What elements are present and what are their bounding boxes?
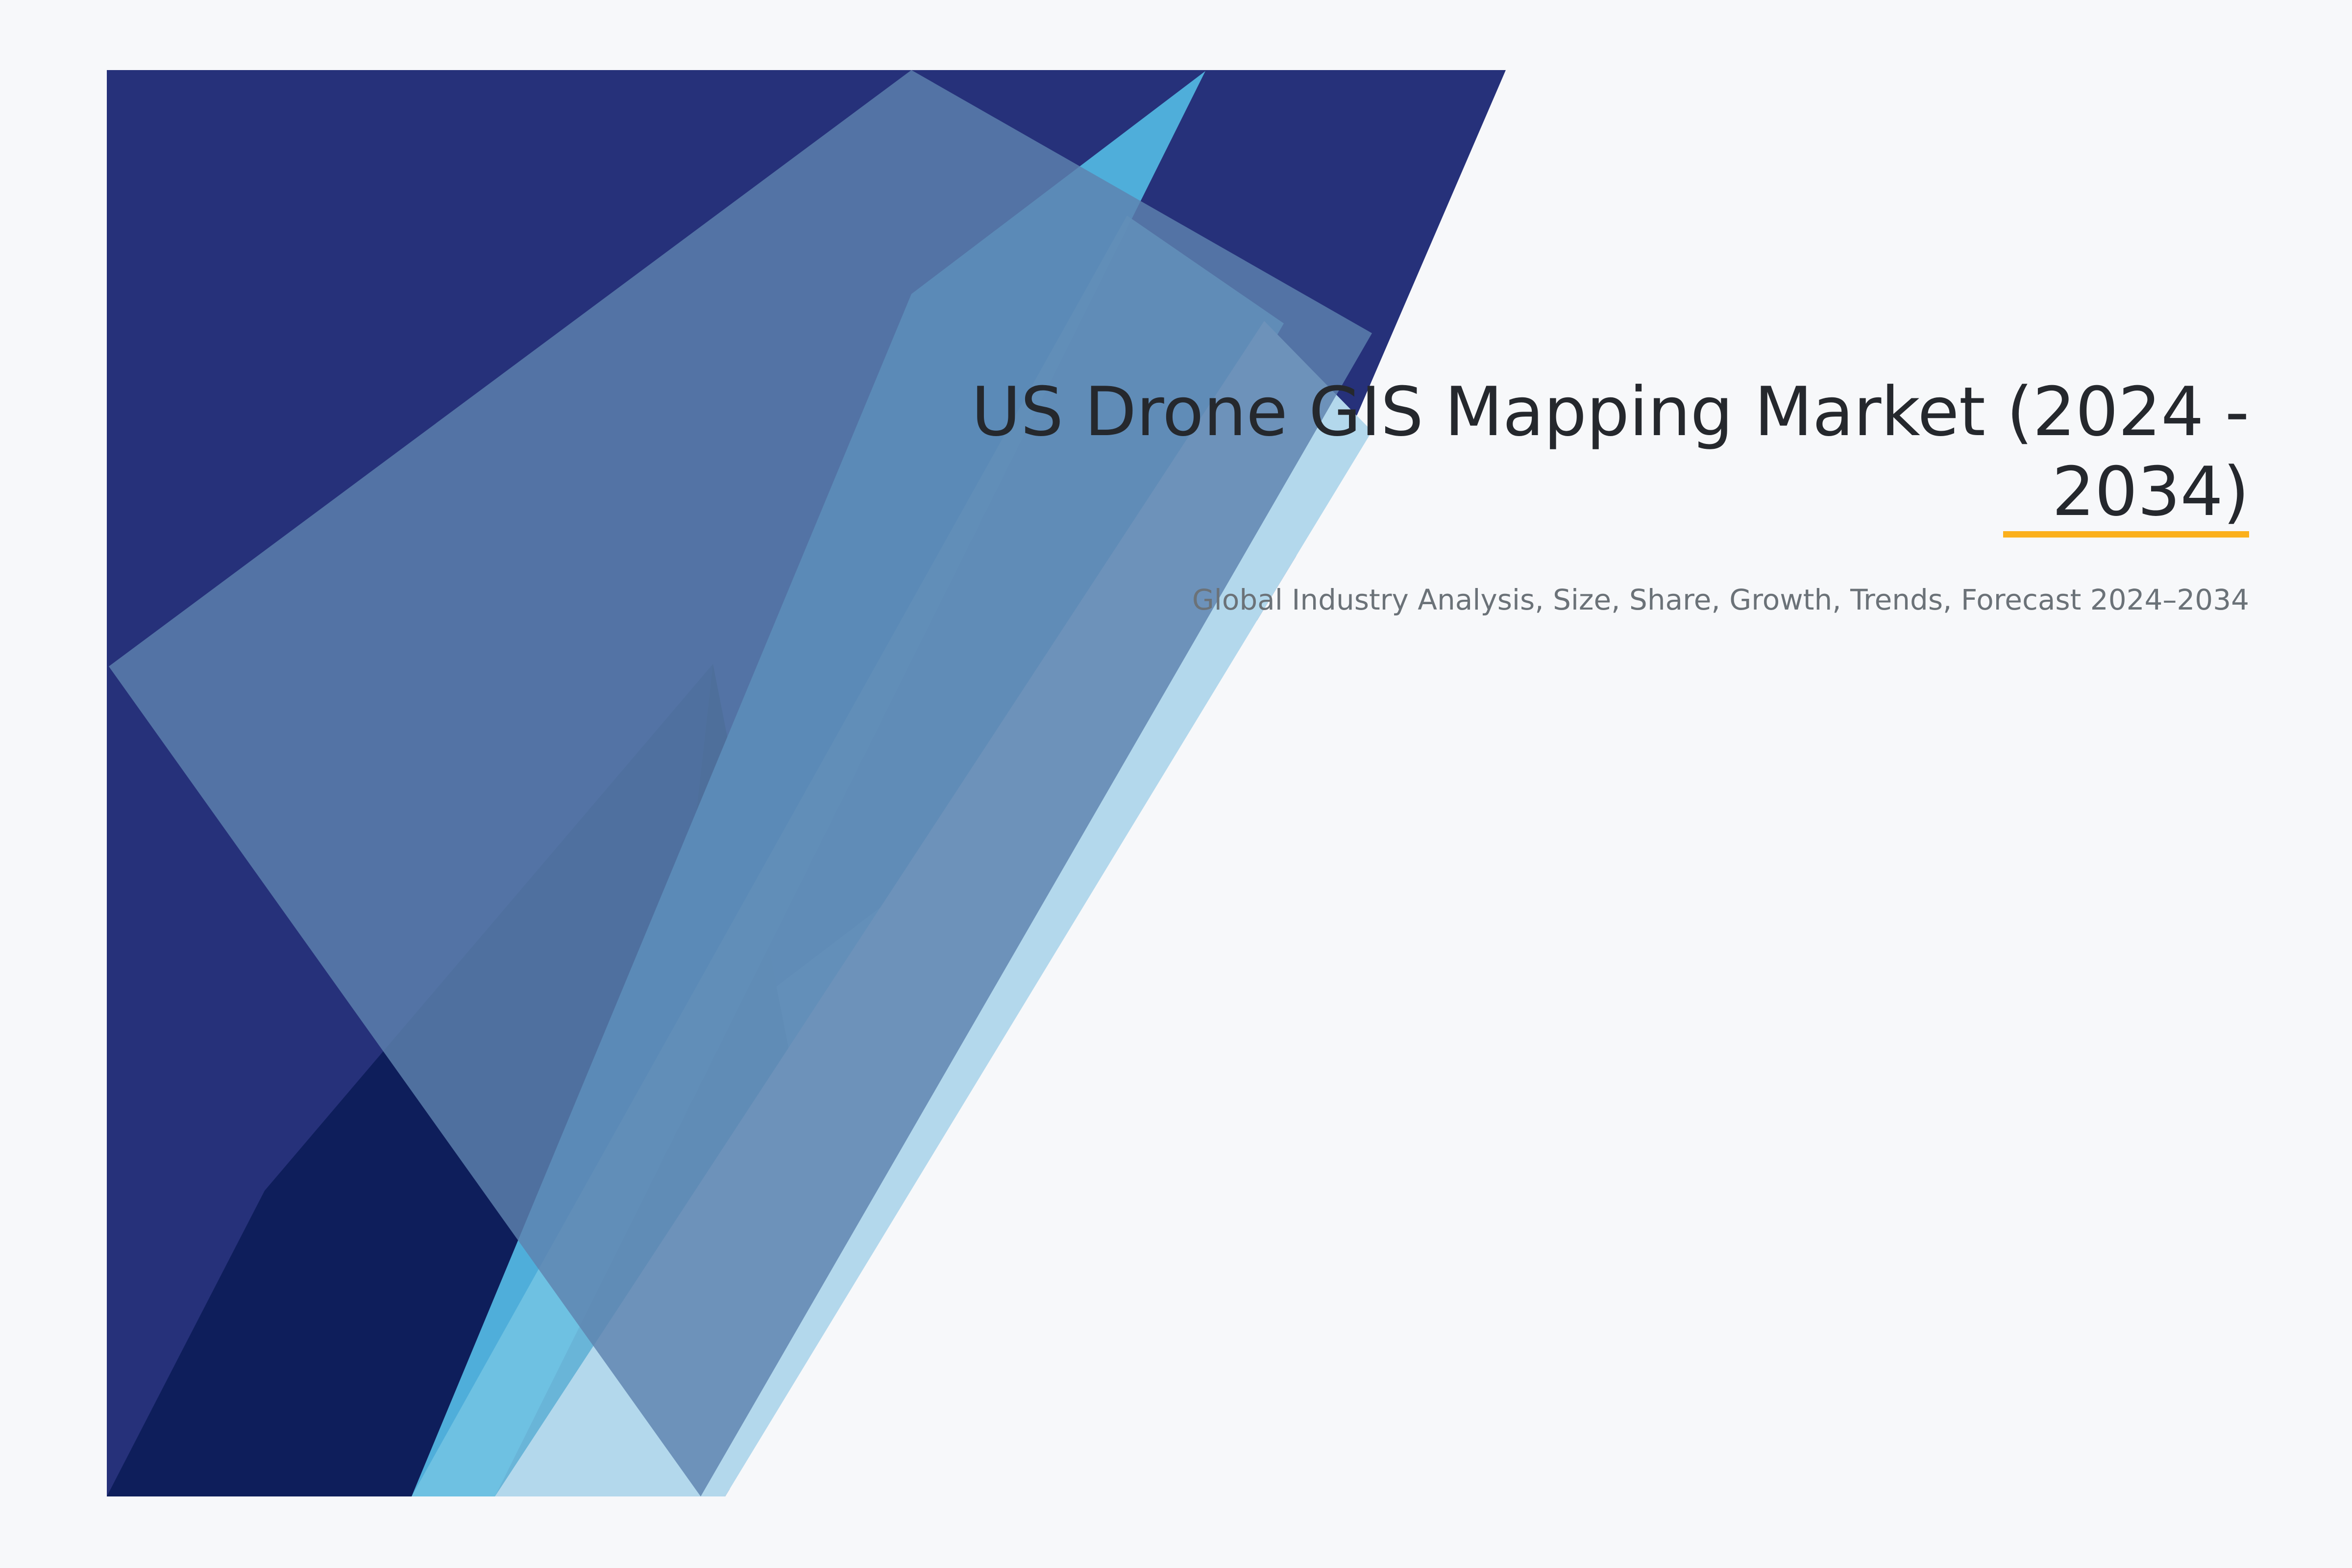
title-wrapper: US Drone GIS Mapping Market (2024 - 2034… (784, 372, 2249, 532)
cover-text-block: US Drone GIS Mapping Market (2024 - 2034… (784, 372, 2249, 618)
artwork-top-mask (0, 0, 2352, 70)
title-accent-underline (2003, 531, 2249, 538)
artwork-bottom-mask (0, 1496, 2352, 1568)
report-cover-page: US Drone GIS Mapping Market (2024 - 2034… (0, 0, 2352, 1568)
page-title: US Drone GIS Mapping Market (2024 - 2034… (784, 372, 2249, 532)
artwork-left-mask (0, 0, 107, 1568)
abstract-geometric-banner (0, 0, 2352, 1568)
page-subtitle: Global Industry Analysis, Size, Share, G… (784, 532, 2249, 619)
